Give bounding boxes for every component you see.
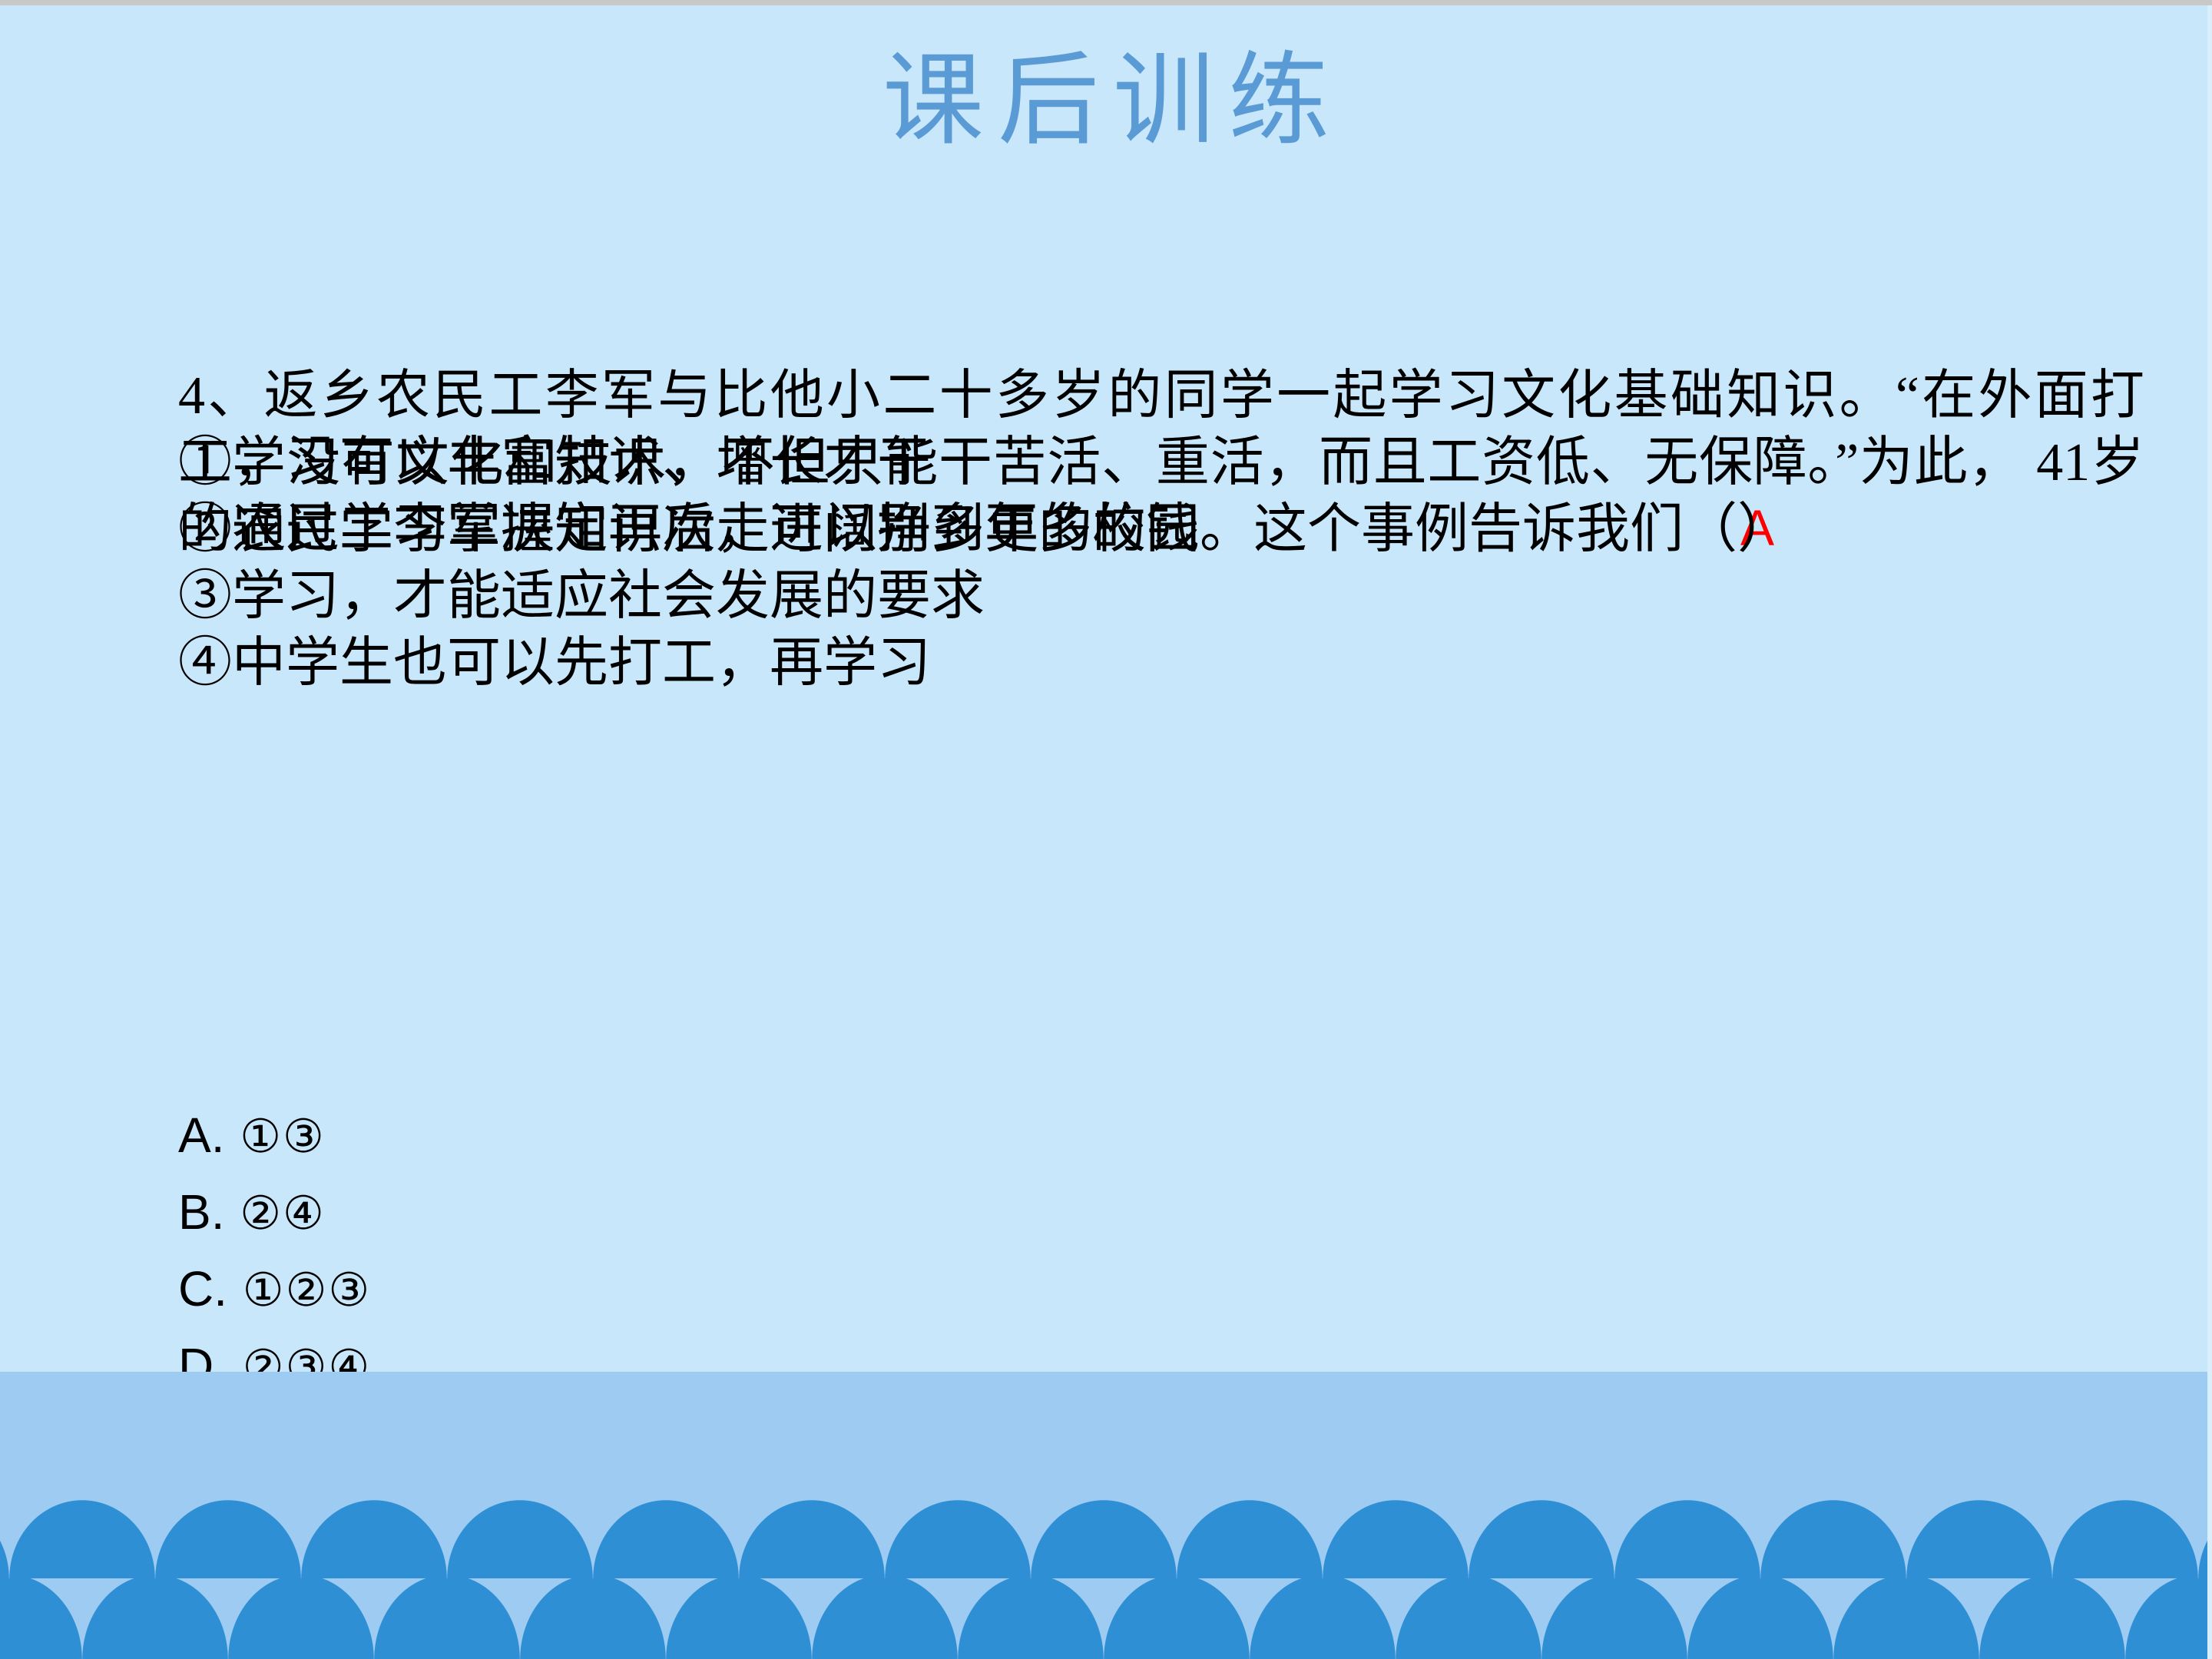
- option-c-letter: C.: [178, 1261, 227, 1316]
- statement-4: ④中学生也可以先打工，再学习: [178, 630, 2160, 697]
- statement-1: ①学习可以丰富知识、增长才干: [178, 429, 2160, 496]
- bottom-decoration-band: [0, 1372, 2212, 1659]
- option-c[interactable]: C. ①②③: [178, 1250, 371, 1327]
- right-edge-sliver: [2207, 5, 2212, 1659]
- page-title: 课后训练: [0, 37, 2212, 167]
- options-list: A. ①③ B. ②④ C. ①②③ D. ②③④: [178, 1097, 371, 1404]
- arch-row-upper: [0, 1500, 2212, 1578]
- option-a-nums: ①③: [240, 1110, 326, 1164]
- question-body: 4、返乡农民工李军与比他小二十多岁的同学一起学习文化基础知识。“在外面打工，没有…: [178, 363, 2160, 697]
- question-stem: 4、返乡农民工李军与比他小二十多岁的同学一起学习文化基础知识。“在外面打工，没有…: [178, 363, 2144, 429]
- option-a-letter: A.: [178, 1108, 224, 1163]
- option-b[interactable]: B. ②④: [178, 1174, 371, 1250]
- window-chrome-strip: [0, 0, 2212, 5]
- arch-row-lower: [0, 1578, 2212, 1659]
- statement-2: ②通过学习掌握知识后，可以挣到更多的钱: [178, 496, 2160, 563]
- option-a[interactable]: A. ①③: [178, 1097, 371, 1174]
- statement-3: ③学习，才能适应社会发展的要求: [178, 563, 2160, 630]
- option-c-nums: ①②③: [243, 1263, 371, 1317]
- option-b-nums: ②④: [240, 1187, 326, 1240]
- option-b-letter: B.: [178, 1184, 224, 1240]
- slide-canvas: 课后训练 4、返乡农民工李军与比他小二十多岁的同学一起学习文化基础知识。“在外面…: [0, 0, 2212, 1659]
